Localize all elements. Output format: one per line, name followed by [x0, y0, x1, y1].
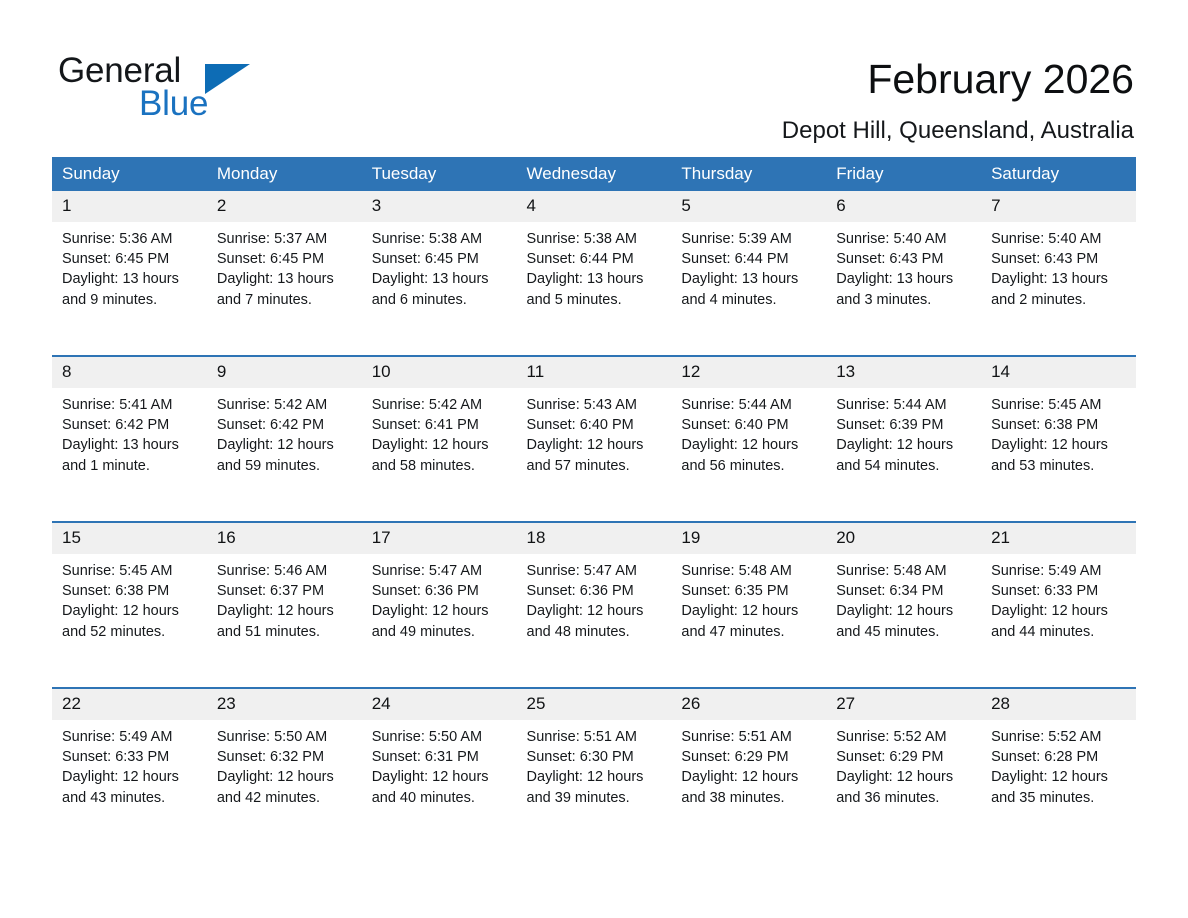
day-sun-info: Sunrise: 5:46 AMSunset: 6:37 PMDaylight:…	[207, 554, 362, 642]
day-number: 3	[362, 191, 517, 222]
generalblue-logo[interactable]: General Blue	[58, 52, 318, 132]
day-sun-info: Sunrise: 5:51 AMSunset: 6:29 PMDaylight:…	[671, 720, 826, 808]
sunset-text: Sunset: 6:40 PM	[527, 415, 664, 435]
weekday-header-sunday: Sunday	[52, 157, 207, 191]
sunrise-text: Sunrise: 5:45 AM	[62, 561, 199, 581]
day-number: 9	[207, 357, 362, 388]
sunrise-text: Sunrise: 5:43 AM	[527, 395, 664, 415]
day-number: 11	[517, 357, 672, 388]
sunrise-text: Sunrise: 5:40 AM	[991, 229, 1128, 249]
sunset-text: Sunset: 6:36 PM	[527, 581, 664, 601]
sunset-text: Sunset: 6:42 PM	[217, 415, 354, 435]
day-number: 15	[52, 523, 207, 554]
sunrise-text: Sunrise: 5:37 AM	[217, 229, 354, 249]
sunrise-text: Sunrise: 5:48 AM	[681, 561, 818, 581]
sunset-text: Sunset: 6:38 PM	[62, 581, 199, 601]
sunrise-text: Sunrise: 5:47 AM	[527, 561, 664, 581]
calendar-day-cell[interactable]: 25Sunrise: 5:51 AMSunset: 6:30 PMDayligh…	[517, 688, 672, 853]
calendar-day-cell[interactable]: 11Sunrise: 5:43 AMSunset: 6:40 PMDayligh…	[517, 356, 672, 522]
sunset-text: Sunset: 6:33 PM	[62, 747, 199, 767]
calendar-header-row: SundayMondayTuesdayWednesdayThursdayFrid…	[52, 157, 1136, 191]
day-number: 25	[517, 689, 672, 720]
sunset-text: Sunset: 6:41 PM	[372, 415, 509, 435]
day-number: 1	[52, 191, 207, 222]
day-sun-info: Sunrise: 5:40 AMSunset: 6:43 PMDaylight:…	[981, 222, 1136, 310]
logo-triangle-icon	[205, 64, 250, 94]
sunrise-text: Sunrise: 5:52 AM	[836, 727, 973, 747]
calendar-day-cell[interactable]: 18Sunrise: 5:47 AMSunset: 6:36 PMDayligh…	[517, 522, 672, 688]
daylight-text: Daylight: 13 hours and 1 minute.	[62, 435, 199, 475]
calendar-day-cell[interactable]: 2Sunrise: 5:37 AMSunset: 6:45 PMDaylight…	[207, 191, 362, 356]
daylight-text: Daylight: 12 hours and 59 minutes.	[217, 435, 354, 475]
page-subtitle-location: Depot Hill, Queensland, Australia	[782, 116, 1134, 146]
sunrise-text: Sunrise: 5:44 AM	[681, 395, 818, 415]
calendar-week-row: 1Sunrise: 5:36 AMSunset: 6:45 PMDaylight…	[52, 191, 1136, 356]
day-number: 5	[671, 191, 826, 222]
daylight-text: Daylight: 12 hours and 47 minutes.	[681, 601, 818, 641]
day-sun-info: Sunrise: 5:41 AMSunset: 6:42 PMDaylight:…	[52, 388, 207, 476]
day-sun-info: Sunrise: 5:44 AMSunset: 6:39 PMDaylight:…	[826, 388, 981, 476]
sunrise-text: Sunrise: 5:45 AM	[991, 395, 1128, 415]
day-sun-info: Sunrise: 5:50 AMSunset: 6:32 PMDaylight:…	[207, 720, 362, 808]
daylight-text: Daylight: 12 hours and 45 minutes.	[836, 601, 973, 641]
calendar-day-cell[interactable]: 1Sunrise: 5:36 AMSunset: 6:45 PMDaylight…	[52, 191, 207, 356]
logo-text-blue: Blue	[139, 85, 208, 123]
sunrise-text: Sunrise: 5:50 AM	[217, 727, 354, 747]
sunset-text: Sunset: 6:29 PM	[681, 747, 818, 767]
day-number: 23	[207, 689, 362, 720]
sunset-text: Sunset: 6:43 PM	[836, 249, 973, 269]
calendar-day-cell[interactable]: 15Sunrise: 5:45 AMSunset: 6:38 PMDayligh…	[52, 522, 207, 688]
day-number: 28	[981, 689, 1136, 720]
day-sun-info: Sunrise: 5:45 AMSunset: 6:38 PMDaylight:…	[52, 554, 207, 642]
daylight-text: Daylight: 12 hours and 38 minutes.	[681, 767, 818, 807]
calendar-day-cell[interactable]: 6Sunrise: 5:40 AMSunset: 6:43 PMDaylight…	[826, 191, 981, 356]
sunrise-text: Sunrise: 5:52 AM	[991, 727, 1128, 747]
calendar-day-cell[interactable]: 22Sunrise: 5:49 AMSunset: 6:33 PMDayligh…	[52, 688, 207, 853]
sunrise-text: Sunrise: 5:49 AM	[62, 727, 199, 747]
sunset-text: Sunset: 6:42 PM	[62, 415, 199, 435]
sunrise-text: Sunrise: 5:36 AM	[62, 229, 199, 249]
sunrise-text: Sunrise: 5:48 AM	[836, 561, 973, 581]
day-number: 14	[981, 357, 1136, 388]
weekday-header-saturday: Saturday	[981, 157, 1136, 191]
calendar-page: General Blue February 2026 Depot Hill, Q…	[0, 0, 1188, 918]
day-sun-info: Sunrise: 5:37 AMSunset: 6:45 PMDaylight:…	[207, 222, 362, 310]
sunset-text: Sunset: 6:45 PM	[62, 249, 199, 269]
day-number: 22	[52, 689, 207, 720]
daylight-text: Daylight: 13 hours and 5 minutes.	[527, 269, 664, 309]
calendar-day-cell[interactable]: 23Sunrise: 5:50 AMSunset: 6:32 PMDayligh…	[207, 688, 362, 853]
calendar-day-cell[interactable]: 27Sunrise: 5:52 AMSunset: 6:29 PMDayligh…	[826, 688, 981, 853]
calendar-day-cell[interactable]: 12Sunrise: 5:44 AMSunset: 6:40 PMDayligh…	[671, 356, 826, 522]
day-number: 19	[671, 523, 826, 554]
weekday-header-thursday: Thursday	[671, 157, 826, 191]
calendar-day-cell[interactable]: 20Sunrise: 5:48 AMSunset: 6:34 PMDayligh…	[826, 522, 981, 688]
daylight-text: Daylight: 12 hours and 52 minutes.	[62, 601, 199, 641]
sunset-text: Sunset: 6:35 PM	[681, 581, 818, 601]
page-header: General Blue February 2026 Depot Hill, Q…	[0, 0, 1188, 150]
weekday-header-wednesday: Wednesday	[517, 157, 672, 191]
daylight-text: Daylight: 13 hours and 6 minutes.	[372, 269, 509, 309]
calendar-day-cell[interactable]: 13Sunrise: 5:44 AMSunset: 6:39 PMDayligh…	[826, 356, 981, 522]
calendar-container: SundayMondayTuesdayWednesdayThursdayFrid…	[52, 157, 1136, 853]
daylight-text: Daylight: 12 hours and 57 minutes.	[527, 435, 664, 475]
day-number: 13	[826, 357, 981, 388]
day-sun-info: Sunrise: 5:49 AMSunset: 6:33 PMDaylight:…	[52, 720, 207, 808]
calendar-day-cell[interactable]: 17Sunrise: 5:47 AMSunset: 6:36 PMDayligh…	[362, 522, 517, 688]
sunset-text: Sunset: 6:39 PM	[836, 415, 973, 435]
daylight-text: Daylight: 12 hours and 58 minutes.	[372, 435, 509, 475]
sunrise-text: Sunrise: 5:38 AM	[527, 229, 664, 249]
calendar-day-cell[interactable]: 4Sunrise: 5:38 AMSunset: 6:44 PMDaylight…	[517, 191, 672, 356]
day-number: 10	[362, 357, 517, 388]
sunrise-text: Sunrise: 5:41 AM	[62, 395, 199, 415]
sunset-text: Sunset: 6:43 PM	[991, 249, 1128, 269]
sunset-text: Sunset: 6:45 PM	[372, 249, 509, 269]
sunset-text: Sunset: 6:28 PM	[991, 747, 1128, 767]
calendar-day-cell[interactable]: 14Sunrise: 5:45 AMSunset: 6:38 PMDayligh…	[981, 356, 1136, 522]
sunrise-text: Sunrise: 5:39 AM	[681, 229, 818, 249]
day-sun-info: Sunrise: 5:50 AMSunset: 6:31 PMDaylight:…	[362, 720, 517, 808]
day-sun-info: Sunrise: 5:47 AMSunset: 6:36 PMDaylight:…	[362, 554, 517, 642]
sunset-text: Sunset: 6:34 PM	[836, 581, 973, 601]
daylight-text: Daylight: 12 hours and 56 minutes.	[681, 435, 818, 475]
sunset-text: Sunset: 6:38 PM	[991, 415, 1128, 435]
sunset-text: Sunset: 6:30 PM	[527, 747, 664, 767]
sunset-text: Sunset: 6:40 PM	[681, 415, 818, 435]
calendar-day-cell[interactable]: 26Sunrise: 5:51 AMSunset: 6:29 PMDayligh…	[671, 688, 826, 853]
day-number: 16	[207, 523, 362, 554]
day-number: 7	[981, 191, 1136, 222]
sunrise-text: Sunrise: 5:40 AM	[836, 229, 973, 249]
sunrise-text: Sunrise: 5:51 AM	[527, 727, 664, 747]
day-sun-info: Sunrise: 5:38 AMSunset: 6:44 PMDaylight:…	[517, 222, 672, 310]
calendar-day-cell[interactable]: 21Sunrise: 5:49 AMSunset: 6:33 PMDayligh…	[981, 522, 1136, 688]
day-sun-info: Sunrise: 5:39 AMSunset: 6:44 PMDaylight:…	[671, 222, 826, 310]
day-sun-info: Sunrise: 5:48 AMSunset: 6:34 PMDaylight:…	[826, 554, 981, 642]
page-title: February 2026	[867, 55, 1134, 103]
sunset-text: Sunset: 6:37 PM	[217, 581, 354, 601]
sunrise-text: Sunrise: 5:46 AM	[217, 561, 354, 581]
day-number: 17	[362, 523, 517, 554]
daylight-text: Daylight: 13 hours and 9 minutes.	[62, 269, 199, 309]
daylight-text: Daylight: 13 hours and 4 minutes.	[681, 269, 818, 309]
calendar-day-cell[interactable]: 5Sunrise: 5:39 AMSunset: 6:44 PMDaylight…	[671, 191, 826, 356]
calendar-day-cell[interactable]: 9Sunrise: 5:42 AMSunset: 6:42 PMDaylight…	[207, 356, 362, 522]
daylight-text: Daylight: 12 hours and 36 minutes.	[836, 767, 973, 807]
daylight-text: Daylight: 12 hours and 51 minutes.	[217, 601, 354, 641]
sunrise-text: Sunrise: 5:38 AM	[372, 229, 509, 249]
sunset-text: Sunset: 6:45 PM	[217, 249, 354, 269]
day-sun-info: Sunrise: 5:40 AMSunset: 6:43 PMDaylight:…	[826, 222, 981, 310]
day-number: 24	[362, 689, 517, 720]
day-number: 21	[981, 523, 1136, 554]
day-number: 20	[826, 523, 981, 554]
day-sun-info: Sunrise: 5:51 AMSunset: 6:30 PMDaylight:…	[517, 720, 672, 808]
sunrise-text: Sunrise: 5:42 AM	[372, 395, 509, 415]
sunrise-text: Sunrise: 5:44 AM	[836, 395, 973, 415]
weekday-header-monday: Monday	[207, 157, 362, 191]
day-number: 26	[671, 689, 826, 720]
sunset-text: Sunset: 6:44 PM	[527, 249, 664, 269]
daylight-text: Daylight: 12 hours and 43 minutes.	[62, 767, 199, 807]
calendar-day-cell[interactable]: 8Sunrise: 5:41 AMSunset: 6:42 PMDaylight…	[52, 356, 207, 522]
calendar-day-cell[interactable]: 7Sunrise: 5:40 AMSunset: 6:43 PMDaylight…	[981, 191, 1136, 356]
sunrise-text: Sunrise: 5:47 AM	[372, 561, 509, 581]
daylight-text: Daylight: 12 hours and 53 minutes.	[991, 435, 1128, 475]
calendar-day-cell[interactable]: 28Sunrise: 5:52 AMSunset: 6:28 PMDayligh…	[981, 688, 1136, 853]
sunrise-text: Sunrise: 5:50 AM	[372, 727, 509, 747]
calendar-day-cell[interactable]: 3Sunrise: 5:38 AMSunset: 6:45 PMDaylight…	[362, 191, 517, 356]
daylight-text: Daylight: 12 hours and 49 minutes.	[372, 601, 509, 641]
weekday-header-friday: Friday	[826, 157, 981, 191]
weekday-header-tuesday: Tuesday	[362, 157, 517, 191]
daylight-text: Daylight: 12 hours and 40 minutes.	[372, 767, 509, 807]
calendar-week-row: 8Sunrise: 5:41 AMSunset: 6:42 PMDaylight…	[52, 356, 1136, 522]
sunset-text: Sunset: 6:33 PM	[991, 581, 1128, 601]
day-sun-info: Sunrise: 5:48 AMSunset: 6:35 PMDaylight:…	[671, 554, 826, 642]
calendar-body: 1Sunrise: 5:36 AMSunset: 6:45 PMDaylight…	[52, 191, 1136, 853]
day-number: 2	[207, 191, 362, 222]
day-sun-info: Sunrise: 5:52 AMSunset: 6:29 PMDaylight:…	[826, 720, 981, 808]
day-number: 12	[671, 357, 826, 388]
daylight-text: Daylight: 12 hours and 35 minutes.	[991, 767, 1128, 807]
sunset-text: Sunset: 6:36 PM	[372, 581, 509, 601]
calendar-day-cell[interactable]: 16Sunrise: 5:46 AMSunset: 6:37 PMDayligh…	[207, 522, 362, 688]
day-sun-info: Sunrise: 5:36 AMSunset: 6:45 PMDaylight:…	[52, 222, 207, 310]
sunset-text: Sunset: 6:31 PM	[372, 747, 509, 767]
daylight-text: Daylight: 12 hours and 48 minutes.	[527, 601, 664, 641]
day-number: 18	[517, 523, 672, 554]
sunset-text: Sunset: 6:32 PM	[217, 747, 354, 767]
calendar-day-cell[interactable]: 24Sunrise: 5:50 AMSunset: 6:31 PMDayligh…	[362, 688, 517, 853]
calendar-table: SundayMondayTuesdayWednesdayThursdayFrid…	[52, 157, 1136, 853]
sunrise-text: Sunrise: 5:51 AM	[681, 727, 818, 747]
daylight-text: Daylight: 12 hours and 42 minutes.	[217, 767, 354, 807]
day-sun-info: Sunrise: 5:49 AMSunset: 6:33 PMDaylight:…	[981, 554, 1136, 642]
daylight-text: Daylight: 12 hours and 54 minutes.	[836, 435, 973, 475]
day-sun-info: Sunrise: 5:42 AMSunset: 6:41 PMDaylight:…	[362, 388, 517, 476]
sunrise-text: Sunrise: 5:49 AM	[991, 561, 1128, 581]
daylight-text: Daylight: 13 hours and 2 minutes.	[991, 269, 1128, 309]
day-sun-info: Sunrise: 5:43 AMSunset: 6:40 PMDaylight:…	[517, 388, 672, 476]
day-sun-info: Sunrise: 5:47 AMSunset: 6:36 PMDaylight:…	[517, 554, 672, 642]
daylight-text: Daylight: 13 hours and 3 minutes.	[836, 269, 973, 309]
calendar-week-row: 22Sunrise: 5:49 AMSunset: 6:33 PMDayligh…	[52, 688, 1136, 853]
calendar-day-cell[interactable]: 10Sunrise: 5:42 AMSunset: 6:41 PMDayligh…	[362, 356, 517, 522]
day-sun-info: Sunrise: 5:44 AMSunset: 6:40 PMDaylight:…	[671, 388, 826, 476]
sunrise-text: Sunrise: 5:42 AM	[217, 395, 354, 415]
day-sun-info: Sunrise: 5:38 AMSunset: 6:45 PMDaylight:…	[362, 222, 517, 310]
day-sun-info: Sunrise: 5:42 AMSunset: 6:42 PMDaylight:…	[207, 388, 362, 476]
day-number: 8	[52, 357, 207, 388]
day-sun-info: Sunrise: 5:52 AMSunset: 6:28 PMDaylight:…	[981, 720, 1136, 808]
daylight-text: Daylight: 12 hours and 44 minutes.	[991, 601, 1128, 641]
daylight-text: Daylight: 12 hours and 39 minutes.	[527, 767, 664, 807]
sunset-text: Sunset: 6:29 PM	[836, 747, 973, 767]
day-number: 27	[826, 689, 981, 720]
day-number: 4	[517, 191, 672, 222]
day-number: 6	[826, 191, 981, 222]
calendar-day-cell[interactable]: 19Sunrise: 5:48 AMSunset: 6:35 PMDayligh…	[671, 522, 826, 688]
daylight-text: Daylight: 13 hours and 7 minutes.	[217, 269, 354, 309]
calendar-week-row: 15Sunrise: 5:45 AMSunset: 6:38 PMDayligh…	[52, 522, 1136, 688]
sunset-text: Sunset: 6:44 PM	[681, 249, 818, 269]
day-sun-info: Sunrise: 5:45 AMSunset: 6:38 PMDaylight:…	[981, 388, 1136, 476]
